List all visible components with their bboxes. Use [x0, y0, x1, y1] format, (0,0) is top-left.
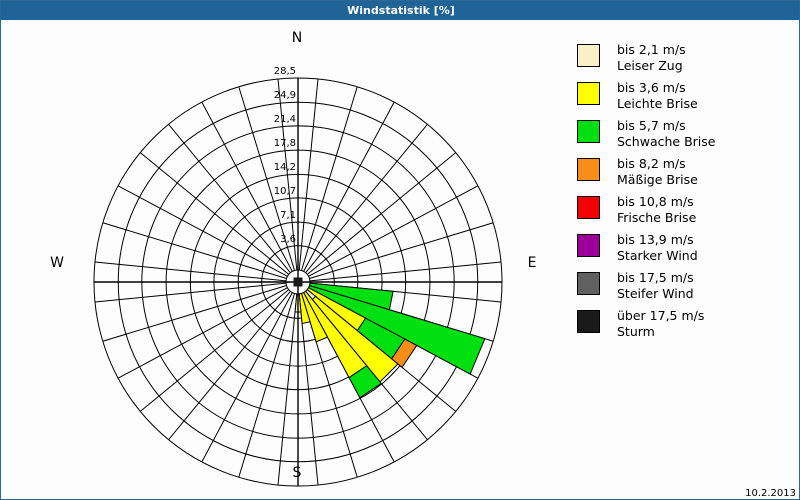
- legend-swatch-leiser-zug: [577, 44, 600, 67]
- legend-item-speed: bis 5,7 m/s: [617, 118, 686, 133]
- grid-spoke: [306, 124, 428, 272]
- legend-item-description: Frische Brise: [617, 210, 696, 226]
- radial-tick-label: 14,2: [254, 162, 296, 173]
- compass-label-east: E: [502, 255, 562, 271]
- wind-rose-chart: 3,67,110,714,217,821,424,928,5 N E S W: [2, 20, 562, 500]
- radial-tick-label: 10,7: [254, 186, 296, 197]
- legend-item-description: Sturm: [617, 324, 704, 340]
- window-title: Windstatistik [%]: [347, 1, 455, 20]
- legend-item-description: Mäßige Brise: [617, 172, 698, 188]
- legend-swatch-starker-wind: [577, 234, 600, 257]
- legend-item-speed: über 17,5 m/s: [617, 308, 704, 323]
- radial-tick-label: 28,5: [254, 66, 296, 77]
- compass-label-south: S: [267, 465, 327, 481]
- legend-item-description: Steifer Wind: [617, 286, 694, 302]
- legend-item-description: Schwache Brise: [617, 134, 715, 150]
- radial-tick-label: 17,8: [254, 138, 296, 149]
- legend-item[interactable]: bis 13,9 m/sStarker Wind: [577, 232, 792, 263]
- legend-item-text: über 17,5 m/sSturm: [617, 308, 704, 339]
- legend-item[interactable]: bis 2,1 m/sLeiser Zug: [577, 42, 792, 73]
- radial-tick-label: 3,6: [254, 234, 296, 245]
- legend-item-description: Leichte Brise: [617, 96, 698, 112]
- calm-center-marker: [294, 278, 303, 287]
- calm-marker-square: [294, 278, 303, 287]
- grid-spoke: [169, 291, 291, 439]
- legend-item-speed: bis 8,2 m/s: [617, 156, 686, 171]
- client-area: 3,67,110,714,217,821,424,928,5 N E S W b…: [2, 20, 800, 500]
- compass-label-north: N: [267, 30, 327, 46]
- legend-item-text: bis 2,1 m/sLeiser Zug: [617, 42, 686, 73]
- legend-item-text: bis 8,2 m/sMäßige Brise: [617, 156, 698, 187]
- radial-tick-label: 21,4: [254, 114, 296, 125]
- wind-rose-petals: [295, 283, 485, 398]
- legend-item-description: Leiser Zug: [617, 58, 686, 74]
- radial-tick-label: 24,9: [254, 90, 296, 101]
- legend-item-text: bis 10,8 m/sFrische Brise: [617, 194, 696, 225]
- legend-item-description: Starker Wind: [617, 248, 698, 264]
- legend-item[interactable]: über 17,5 m/sSturm: [577, 308, 792, 339]
- grid-spoke: [239, 293, 295, 477]
- legend-swatch-frische-brise: [577, 196, 600, 219]
- legend-item[interactable]: bis 3,6 m/sLeichte Brise: [577, 80, 792, 111]
- grid-spoke: [103, 223, 287, 279]
- legend-item[interactable]: bis 8,2 m/sMäßige Brise: [577, 156, 792, 187]
- legend-item[interactable]: bis 17,5 m/sSteifer Wind: [577, 270, 792, 301]
- legend-swatch-schwache-brise: [577, 120, 600, 143]
- legend-swatch-sturm: [577, 310, 600, 333]
- radial-tick-label: 7,1: [254, 210, 296, 221]
- footer-date: 10.2.2013: [745, 488, 796, 499]
- compass-label-west: W: [27, 255, 87, 271]
- legend-swatch-maessige-brise: [577, 158, 600, 181]
- legend-item-speed: bis 17,5 m/s: [617, 270, 694, 285]
- windstatistik-window: Windstatistik [%] 3,67,110,714,217,821,4…: [0, 0, 800, 500]
- legend-item-text: bis 3,6 m/sLeichte Brise: [617, 80, 698, 111]
- legend-item-speed: bis 3,6 m/s: [617, 80, 686, 95]
- grid-spoke: [307, 153, 455, 275]
- legend-item-text: bis 17,5 m/sSteifer Wind: [617, 270, 694, 301]
- legend-item[interactable]: bis 10,8 m/sFrische Brise: [577, 194, 792, 225]
- legend-item-speed: bis 13,9 m/s: [617, 232, 694, 247]
- legend-swatch-leichte-brise: [577, 82, 600, 105]
- grid-spoke: [103, 285, 287, 341]
- window-titlebar: Windstatistik [%]: [1, 1, 800, 20]
- legend-swatch-steifer-wind: [577, 272, 600, 295]
- legend-item-speed: bis 10,8 m/s: [617, 194, 694, 209]
- grid-spoke: [301, 87, 357, 271]
- legend-item[interactable]: bis 5,7 m/sSchwache Brise: [577, 118, 792, 149]
- legend-item-speed: bis 2,1 m/s: [617, 42, 686, 57]
- grid-spoke: [140, 290, 288, 412]
- grid-spoke: [309, 223, 493, 279]
- legend-item-text: bis 13,9 m/sStarker Wind: [617, 232, 698, 263]
- legend-item-text: bis 5,7 m/sSchwache Brise: [617, 118, 715, 149]
- legend: bis 2,1 m/sLeiser Zugbis 3,6 m/sLeichte …: [577, 42, 792, 346]
